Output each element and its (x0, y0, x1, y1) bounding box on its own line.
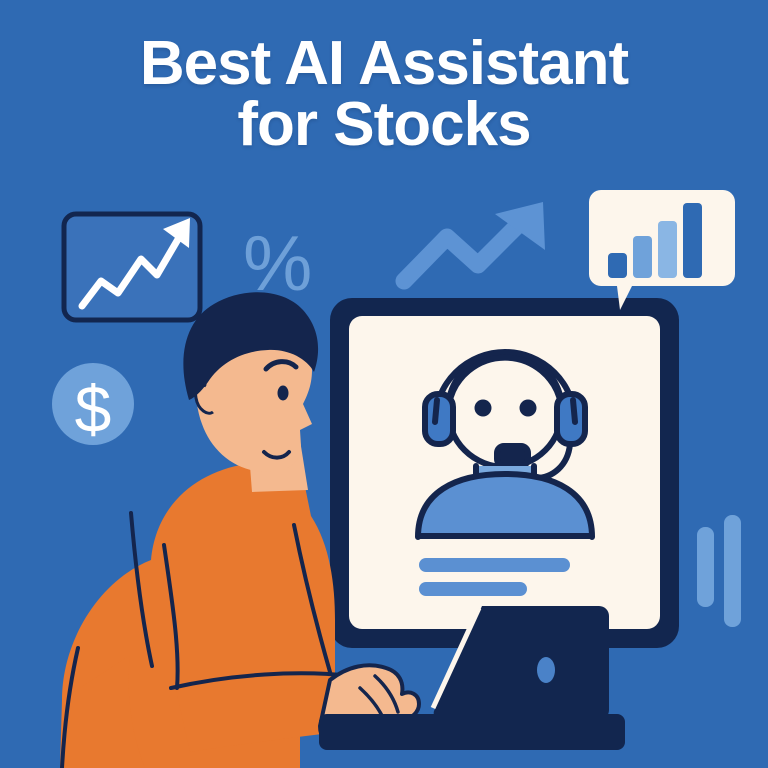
laptop (319, 606, 625, 750)
laptop-lid (434, 606, 609, 720)
laptop-base (319, 714, 625, 750)
laptop-layer (0, 0, 768, 768)
laptop-logo (537, 657, 555, 683)
poster-canvas: Best AI Assistant for Stocks % $ (0, 0, 768, 768)
